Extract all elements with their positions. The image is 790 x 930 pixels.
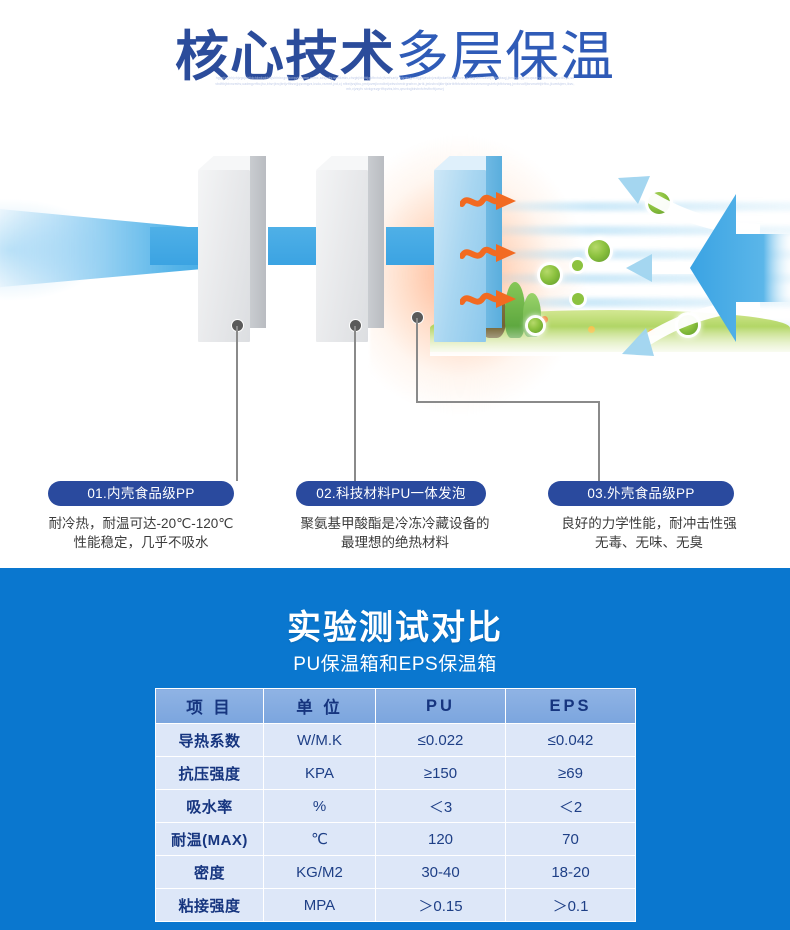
leader-line-1 xyxy=(236,326,238,481)
cell-item: 密度 xyxy=(156,856,264,889)
cell-pu: ≤0.022 xyxy=(376,724,506,757)
cell-unit: % xyxy=(264,790,376,823)
feature-badge-2[interactable]: 02.科技材料PU一体发泡 xyxy=(296,481,486,506)
cell-pu: 30-40 xyxy=(376,856,506,889)
comparison-title: 实验测试对比 xyxy=(0,600,790,649)
cell-eps: ＞0.1 xyxy=(506,889,636,922)
cell-eps: ≥69 xyxy=(506,757,636,790)
cell-eps: ＜2 xyxy=(506,790,636,823)
column-header-unit: 单 位 xyxy=(264,689,376,724)
leader-line-3b xyxy=(416,401,600,403)
comparison-table: 项 目 单 位 PU EPS 导热系数 W/M.K ≤0.022 ≤0.042 … xyxy=(155,688,636,922)
airflow-big-arrow-icon xyxy=(690,178,790,358)
caption-line: 耐冷热，耐温可达-20℃-120℃ xyxy=(0,514,282,533)
caption-line: 最理想的绝热材料 xyxy=(255,533,535,552)
cell-item: 导热系数 xyxy=(156,724,264,757)
product-detail-page: 核心技术多层保温 hgygjhgjbhjvhjvgcjbhtjdchbnbgbh… xyxy=(0,0,790,930)
core-technology-section: 核心技术多层保温 hgygjhgjbhjvhjvgcjbhtjdchbnbgbh… xyxy=(0,0,790,568)
cell-unit: ℃ xyxy=(264,823,376,856)
cell-eps: ≤0.042 xyxy=(506,724,636,757)
feature-badge-3[interactable]: 03.外壳食品级PP xyxy=(548,481,734,506)
table-row: 吸水率 % ＜3 ＜2 xyxy=(156,790,636,823)
table-row: 导热系数 W/M.K ≤0.022 ≤0.042 xyxy=(156,724,636,757)
caption-line: 无毒、无味、无臭 xyxy=(508,533,790,552)
germ-icon xyxy=(540,265,560,285)
leader-line-3c xyxy=(598,401,600,481)
feature-caption-2: 聚氨基甲酸酯是冷冻冷藏设备的 最理想的绝热材料 xyxy=(255,514,535,552)
caption-line: 性能稳定，几乎不吸水 xyxy=(0,533,282,552)
decorative-micro-text: hgygjhgjbhjvhjvgcjbhtjdchbnbgbhtcjvhfnbn… xyxy=(0,76,790,93)
cell-unit: KPA xyxy=(264,757,376,790)
cell-item: 粘接强度 xyxy=(156,889,264,922)
feature-badge-1[interactable]: 01.内壳食品级PP xyxy=(48,481,234,506)
feature-caption-1: 耐冷热，耐温可达-20℃-120℃ 性能稳定，几乎不吸水 xyxy=(0,514,282,552)
cell-pu: ＞0.15 xyxy=(376,889,506,922)
comparison-section: 实验测试对比 PU保温箱和EPS保温箱 项 目 单 位 PU EPS 导热系数 … xyxy=(0,568,790,930)
cell-item: 吸水率 xyxy=(156,790,264,823)
caption-line: 良好的力学性能，耐冲击性强 xyxy=(508,514,790,533)
cell-pu: ＜3 xyxy=(376,790,506,823)
cell-pu: 120 xyxy=(376,823,506,856)
table-row: 粘接强度 MPA ＞0.15 ＞0.1 xyxy=(156,889,636,922)
heat-wave-arrow-icon xyxy=(460,242,520,264)
table-row: 耐温(MAX) ℃ 120 70 xyxy=(156,823,636,856)
cell-item: 耐温(MAX) xyxy=(156,823,264,856)
caption-line: 聚氨基甲酸酯是冷冻冷藏设备的 xyxy=(255,514,535,533)
heat-wave-arrow-icon xyxy=(460,288,520,310)
feature-caption-3: 良好的力学性能，耐冲击性强 无毒、无味、无臭 xyxy=(508,514,790,552)
cell-unit: W/M.K xyxy=(264,724,376,757)
table-body: 导热系数 W/M.K ≤0.022 ≤0.042 抗压强度 KPA ≥150 ≥… xyxy=(156,724,636,922)
leader-line-2 xyxy=(354,326,356,481)
cell-unit: MPA xyxy=(264,889,376,922)
cell-item: 抗压强度 xyxy=(156,757,264,790)
germ-icon xyxy=(528,318,543,333)
cell-eps: 18-20 xyxy=(506,856,636,889)
leader-line-3a xyxy=(416,318,418,402)
table-row: 密度 KG/M2 30-40 18-20 xyxy=(156,856,636,889)
cell-unit: KG/M2 xyxy=(264,856,376,889)
table-header-row: 项 目 单 位 PU EPS xyxy=(156,689,636,724)
insulation-layers-illustration xyxy=(0,130,790,460)
comparison-subtitle: PU保温箱和EPS保温箱 xyxy=(0,649,790,676)
heat-wave-arrow-icon xyxy=(460,190,520,212)
column-header-pu: PU xyxy=(376,689,506,724)
cell-eps: 70 xyxy=(506,823,636,856)
cell-pu: ≥150 xyxy=(376,757,506,790)
column-header-eps: EPS xyxy=(506,689,636,724)
table-row: 抗压强度 KPA ≥150 ≥69 xyxy=(156,757,636,790)
column-header-item: 项 目 xyxy=(156,689,264,724)
